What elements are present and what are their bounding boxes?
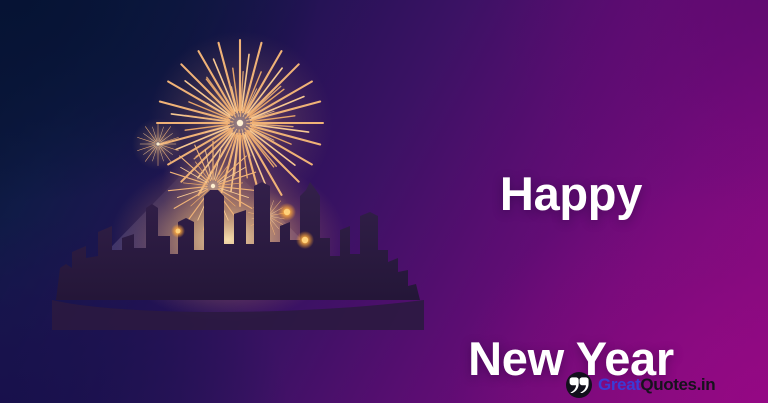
banner-canvas: Happy New Year Quotes 2026 GreatQuotes.i…	[0, 0, 768, 403]
brand-word-quotes: Quotes.in	[640, 375, 715, 394]
brand-logo[interactable]: GreatQuotes.in	[566, 371, 715, 398]
title-line-1: Happy	[396, 166, 746, 221]
brand-word-great: Great	[598, 375, 640, 394]
quote-mark-icon	[566, 372, 592, 398]
fireworks-skyline-illustration	[0, 0, 430, 403]
page-title: Happy New Year Quotes 2026	[396, 56, 746, 403]
brand-wordmark: GreatQuotes.in	[598, 372, 715, 398]
